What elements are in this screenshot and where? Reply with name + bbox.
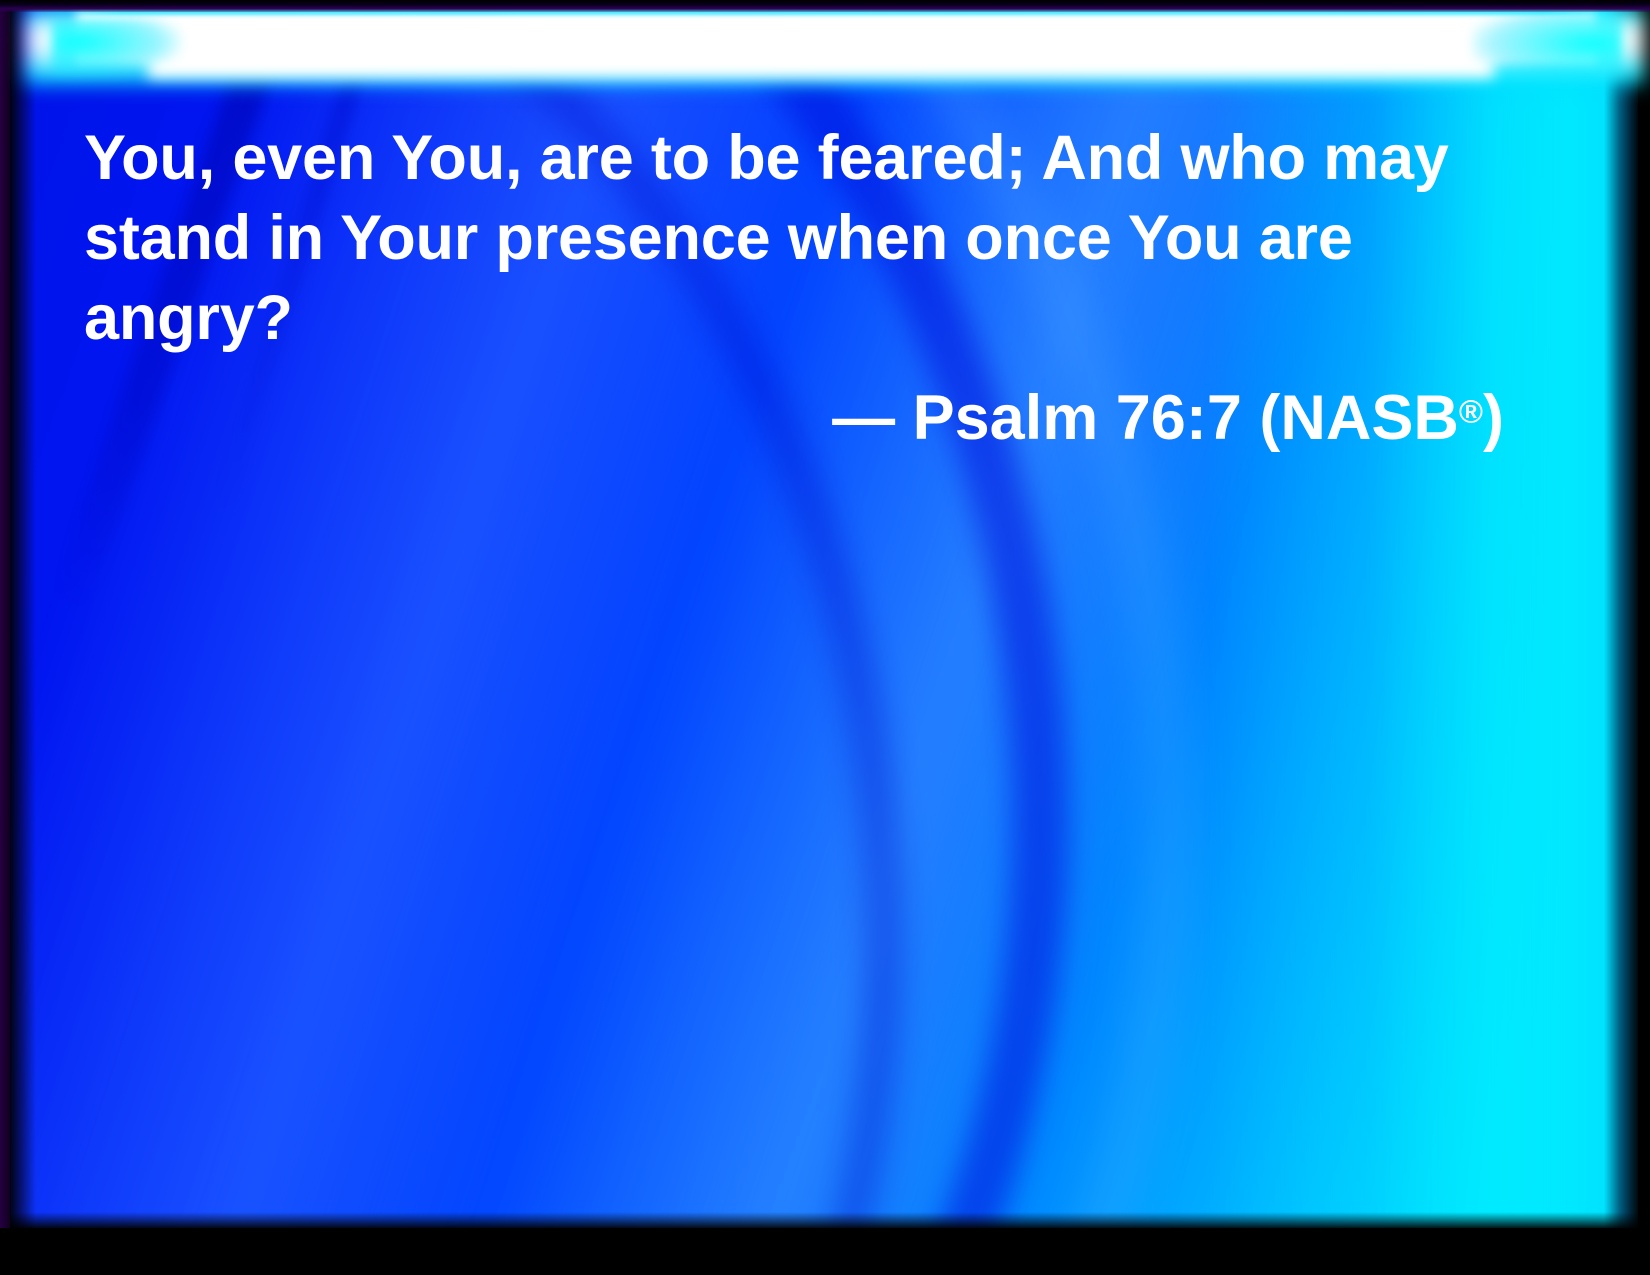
citation-translation-open: (NASB: [1259, 383, 1459, 453]
registered-trademark-icon: ®: [1459, 393, 1483, 430]
verse-citation: — Psalm 76:7 (NASB®): [84, 378, 1504, 458]
citation-translation-close: ): [1483, 383, 1504, 453]
citation-reference: 76:7: [1116, 383, 1242, 453]
slide-text-layer: You, even You, are to be feared; And who…: [0, 0, 1650, 1275]
citation-book: Psalm: [913, 383, 1099, 453]
verse-slide: You, even You, are to be feared; And who…: [0, 0, 1650, 1275]
citation-dash: —: [832, 383, 895, 453]
verse-text: You, even You, are to be feared; And who…: [84, 118, 1464, 358]
